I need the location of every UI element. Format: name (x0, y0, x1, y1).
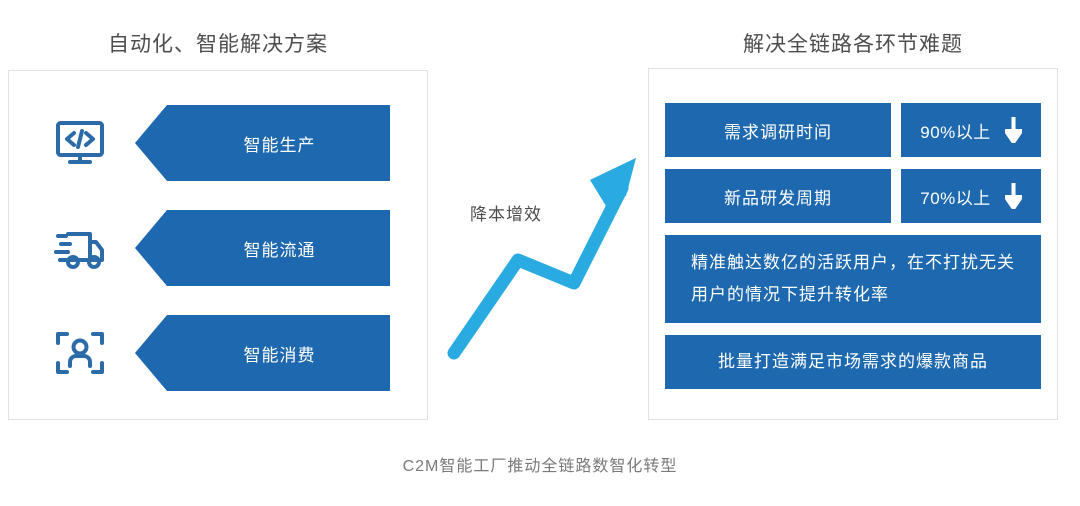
stat-row: 需求调研时间 90%以上 (665, 103, 1041, 157)
stat-name[interactable]: 需求调研时间 (665, 103, 891, 157)
outcomes-panel: 需求调研时间 90%以上 新品研发周期 70%以上 精准触达数亿的活跃用户，在不… (648, 68, 1058, 420)
person-scan-icon (49, 322, 111, 384)
solutions-panel: 智能生产 智能流通 (8, 70, 428, 420)
stat-value[interactable]: 70%以上 (901, 169, 1041, 223)
left-panel-title: 自动化、智能解决方案 (8, 28, 428, 58)
growth-arrow-icon (440, 150, 650, 365)
solution-chevron[interactable]: 智能流通 (135, 210, 390, 286)
stat-name[interactable]: 新品研发周期 (665, 169, 891, 223)
monitor-code-icon (49, 112, 111, 174)
stat-row: 新品研发周期 70%以上 (665, 169, 1041, 223)
solution-chevron[interactable]: 智能消费 (135, 315, 390, 391)
solution-label: 智能消费 (210, 341, 316, 366)
outcome-note[interactable]: 批量打造满足市场需求的爆款商品 (665, 335, 1041, 389)
solution-label: 智能生产 (210, 131, 316, 156)
right-panel-title: 解决全链路各环节难题 (648, 28, 1058, 58)
figure-caption: C2M智能工厂推动全链路数智化转型 (0, 452, 1080, 476)
solution-chevron[interactable]: 智能生产 (135, 105, 390, 181)
arrow-label: 降本增效 (470, 200, 542, 225)
delivery-truck-icon (49, 217, 111, 279)
solution-row: 智能消费 (9, 311, 427, 395)
stat-name-label: 需求调研时间 (724, 118, 832, 143)
stat-name-label: 新品研发周期 (724, 184, 832, 209)
solution-label: 智能流通 (210, 236, 316, 261)
solution-row: 智能流通 (9, 206, 427, 290)
stat-value[interactable]: 90%以上 (901, 103, 1041, 157)
arrow-down-icon (1005, 183, 1022, 209)
outcome-note-label: 批量打造满足市场需求的爆款商品 (718, 346, 988, 378)
arrow-down-icon (1005, 117, 1022, 143)
outcome-note-label: 精准触达数亿的活跃用户，在不打扰无关用户的情况下提升转化率 (691, 253, 1015, 304)
solution-row: 智能生产 (9, 101, 427, 185)
stat-value-label: 90%以上 (920, 118, 991, 143)
stat-value-label: 70%以上 (920, 184, 991, 209)
outcome-note[interactable]: 精准触达数亿的活跃用户，在不打扰无关用户的情况下提升转化率 (665, 235, 1041, 323)
